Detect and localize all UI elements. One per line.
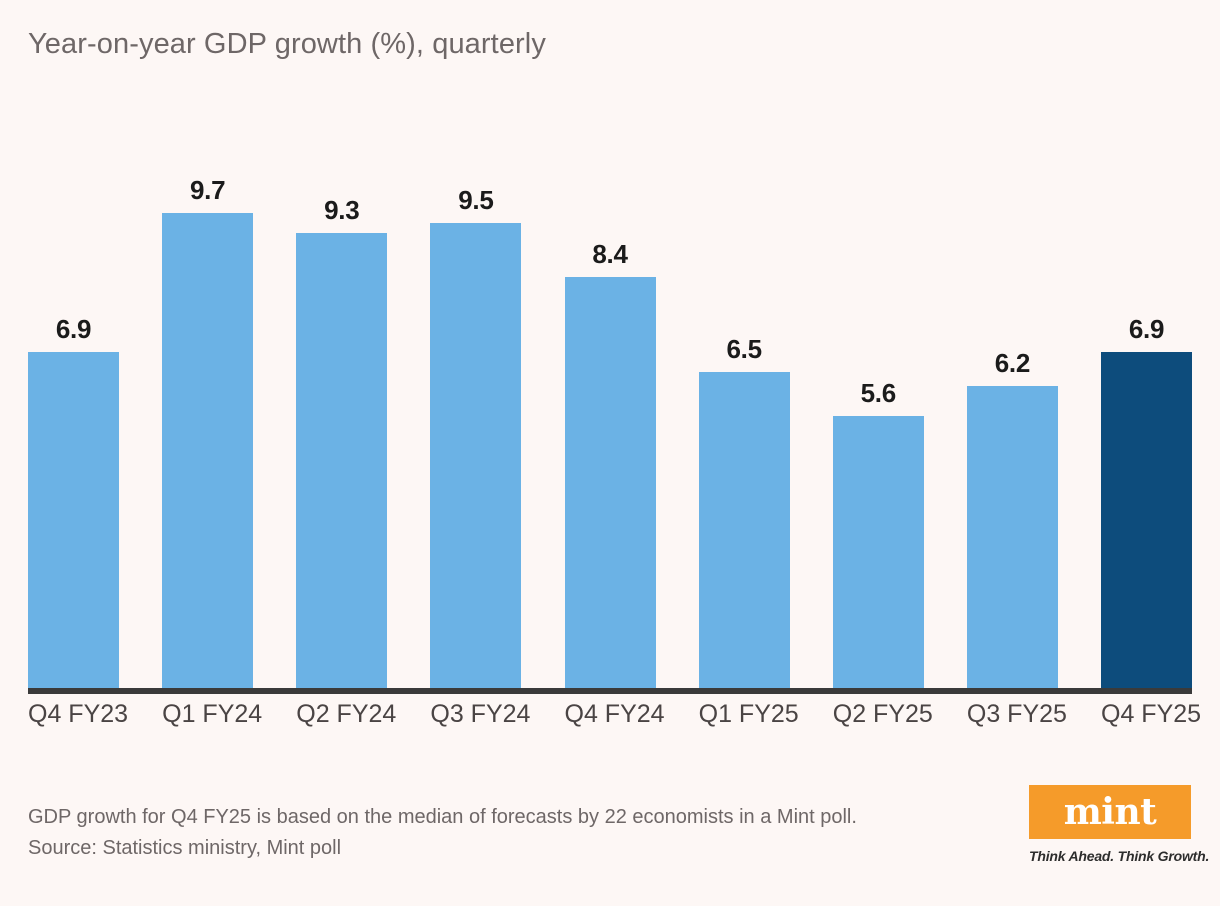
bar-column[interactable]: 6.9: [28, 120, 119, 694]
x-axis-label: Q4 FY24: [565, 700, 656, 729]
chart-card: Year-on-year GDP growth (%), quarterly 6…: [0, 0, 1220, 906]
mint-tagline: Think Ahead. Think Growth.: [1029, 848, 1191, 864]
bar-column[interactable]: 5.6: [833, 120, 924, 694]
bar-value-label: 6.2: [995, 350, 1030, 376]
bar-column[interactable]: 6.5: [699, 120, 790, 694]
bar-rect[interactable]: [699, 372, 790, 694]
bar-column[interactable]: 8.4: [565, 120, 656, 694]
x-axis-label: Q3 FY24: [430, 700, 521, 729]
bar-column[interactable]: 9.5: [430, 120, 521, 694]
bar-value-label: 5.6: [861, 380, 896, 406]
x-axis-label: Q2 FY25: [833, 700, 924, 729]
x-axis-label: Q2 FY24: [296, 700, 387, 729]
bar-rect[interactable]: [833, 416, 924, 694]
bar-rect[interactable]: [1101, 352, 1192, 694]
bar-series: 6.99.79.39.58.46.55.66.26.9: [28, 120, 1192, 694]
bar-rect[interactable]: [296, 233, 387, 694]
bar-column[interactable]: 9.3: [296, 120, 387, 694]
bar-value-label: 9.3: [324, 197, 359, 223]
bar-value-label: 9.5: [458, 187, 493, 213]
bar-rect[interactable]: [430, 223, 521, 694]
bar-rect[interactable]: [967, 386, 1058, 694]
x-axis-label: Q1 FY24: [162, 700, 253, 729]
x-axis-label: Q3 FY25: [967, 700, 1058, 729]
bar-value-label: 9.7: [190, 177, 225, 203]
footnotes: GDP growth for Q4 FY25 is based on the m…: [28, 802, 988, 864]
x-axis-line: [28, 688, 1192, 694]
page-title: Year-on-year GDP growth (%), quarterly: [28, 28, 546, 61]
bar-column[interactable]: 9.7: [162, 120, 253, 694]
mint-logo-box: mint: [1029, 785, 1191, 839]
bar-value-label: 8.4: [592, 241, 627, 267]
x-axis-label: Q4 FY23: [28, 700, 119, 729]
bar-rect[interactable]: [162, 213, 253, 694]
bar-value-label: 6.5: [727, 336, 762, 362]
footnote-source: Source: Statistics ministry, Mint poll: [28, 833, 988, 864]
bar-column[interactable]: 6.2: [967, 120, 1058, 694]
bar-column[interactable]: 6.9: [1101, 120, 1192, 694]
plot-area: 6.99.79.39.58.46.55.66.26.9: [28, 120, 1192, 694]
bar-rect[interactable]: [28, 352, 119, 694]
mint-logo: mint Think Ahead. Think Growth.: [1029, 785, 1191, 864]
x-axis-label: Q1 FY25: [699, 700, 790, 729]
x-axis-tick-labels: Q4 FY23Q1 FY24Q2 FY24Q3 FY24Q4 FY24Q1 FY…: [28, 700, 1192, 729]
bar-rect[interactable]: [565, 277, 656, 694]
x-axis-label: Q4 FY25: [1101, 700, 1192, 729]
footnote-note: GDP growth for Q4 FY25 is based on the m…: [28, 802, 988, 833]
bar-value-label: 6.9: [1129, 316, 1164, 342]
bar-value-label: 6.9: [56, 316, 91, 342]
mint-wordmark: mint: [1064, 794, 1157, 830]
